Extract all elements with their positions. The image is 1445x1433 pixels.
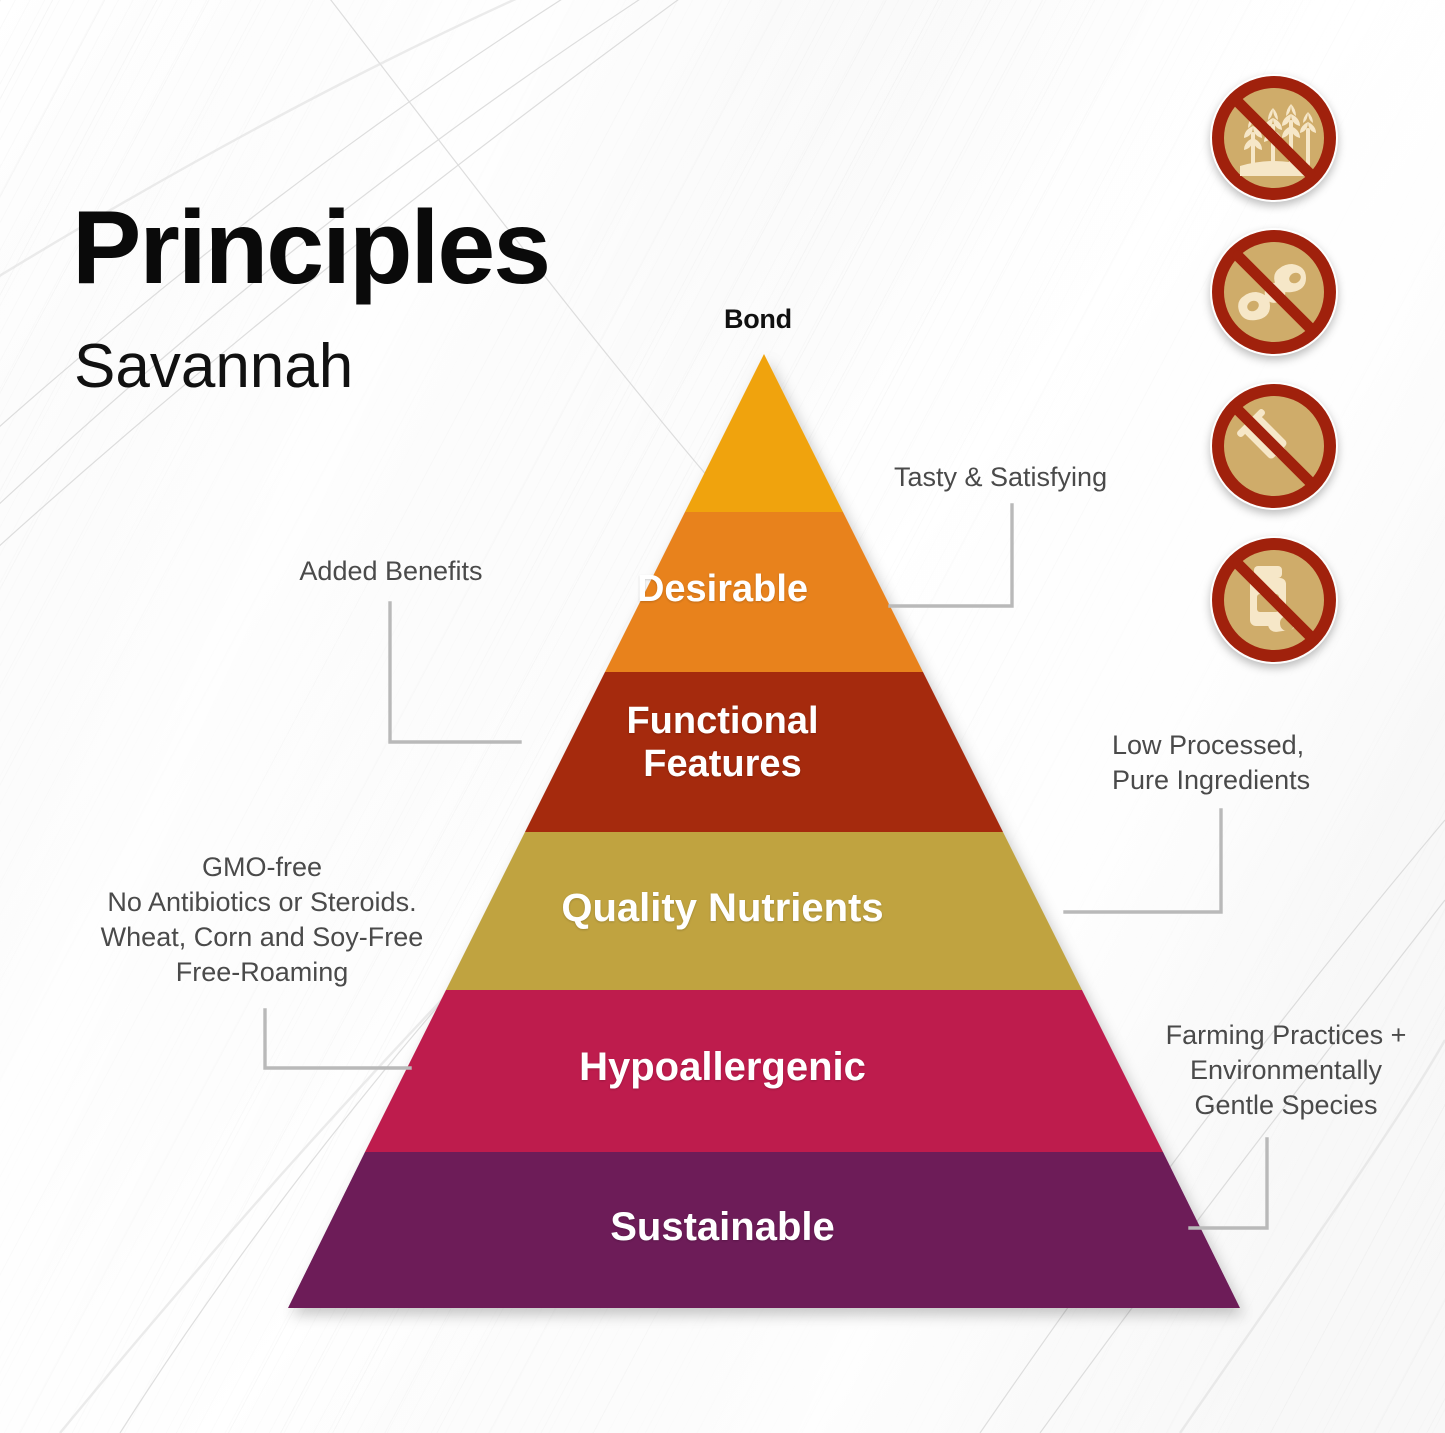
pyramid-tier-quality xyxy=(446,832,1082,990)
callout-left-block: GMO-free No Antibiotics or Steroids. Whe… xyxy=(52,850,472,990)
callout-tasty: Tasty & Satisfying xyxy=(894,460,1107,495)
pyramid-tier-hypoallergenic xyxy=(365,990,1163,1152)
pyramid-tier-functional xyxy=(525,672,1003,832)
pill-bottle-icon xyxy=(1210,536,1338,664)
no-soy-badge xyxy=(1210,228,1338,356)
connector-left-block xyxy=(265,1010,410,1068)
syringe-icon xyxy=(1210,382,1338,510)
pyramid-diagram: Desirable Functional Features Quality Nu… xyxy=(0,0,1445,1433)
callout-farming: Farming Practices + Environmentally Gent… xyxy=(1138,1018,1434,1123)
no-wheat-badge xyxy=(1210,74,1338,202)
no-hormones-badge xyxy=(1210,382,1338,510)
no-medication-badge xyxy=(1210,536,1338,664)
infographic-canvas: Principles Savannah Bond xyxy=(0,0,1445,1433)
connector-low-processed xyxy=(1065,810,1221,912)
pyramid-tier-apex xyxy=(685,354,843,512)
connector-tasty xyxy=(890,505,1012,606)
callout-added-benefits: Added Benefits xyxy=(236,554,546,589)
soybean-icon xyxy=(1210,228,1338,356)
wheat-icon xyxy=(1210,74,1338,202)
connector-farming xyxy=(1190,1139,1267,1228)
pyramid-tier-desirable xyxy=(605,512,923,672)
pyramid-tier-sustainable xyxy=(288,1152,1240,1308)
callout-low-processed: Low Processed, Pure Ingredients xyxy=(1112,728,1310,798)
connector-added-benefits xyxy=(390,603,520,742)
